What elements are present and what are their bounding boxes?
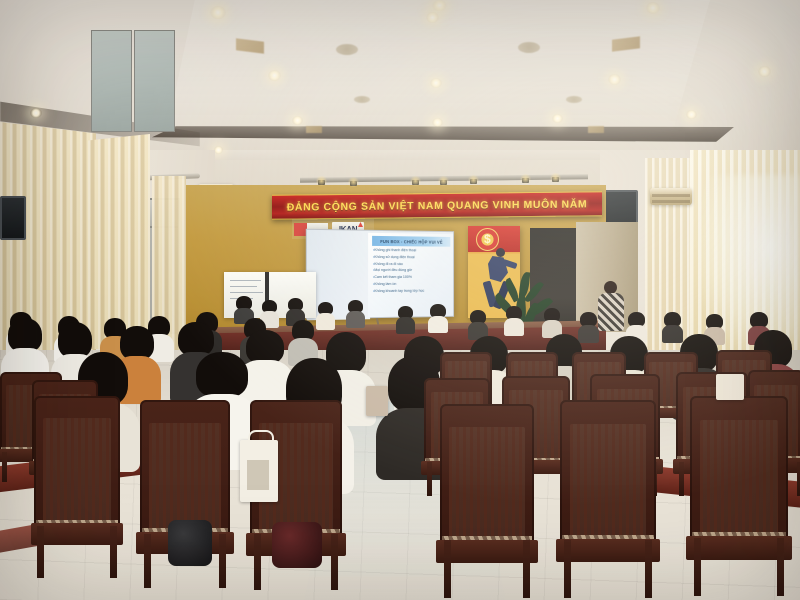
- slide-bullet: Mọi người đều đúng giờ: [373, 267, 453, 274]
- downlight-icon: [292, 116, 303, 125]
- downlight-icon: [758, 66, 771, 77]
- audience-member: [470, 310, 486, 338]
- chair[interactable]: [690, 396, 788, 596]
- downlight-icon: [432, 118, 443, 127]
- handbag: [716, 374, 744, 400]
- ceiling-vent-icon: [354, 96, 370, 103]
- audience-member: [430, 304, 446, 330]
- downlight-icon: [30, 108, 42, 118]
- ceiling-speaker-icon: [306, 126, 322, 133]
- downlight-icon: [430, 78, 442, 88]
- slide-bullet: Không khoanh tay trong lớp học: [373, 288, 453, 295]
- downlight-icon: [686, 110, 697, 119]
- spotlight-icon: [412, 180, 419, 185]
- spotlight-icon: [318, 180, 325, 185]
- downlight-icon: [210, 6, 226, 19]
- downlight-icon: [608, 74, 621, 85]
- audience-member: [398, 306, 413, 332]
- downlight-icon: [426, 12, 439, 23]
- ceiling-vent-icon: [566, 96, 582, 103]
- chair[interactable]: [560, 400, 656, 598]
- handbag: [366, 386, 388, 416]
- slide-title-text: FUN BOX - CHIẾC HỘP VUI VẺ: [380, 238, 442, 244]
- seminar-hall-photo: ĐẢNG CỘNG SẢN VIỆT NAM QUANG VINH MUÔN N…: [0, 0, 800, 600]
- spotlight-icon: [440, 180, 447, 185]
- ceiling-speaker-icon: [588, 126, 604, 133]
- audience-member: [580, 312, 597, 340]
- glass-door-left[interactable]: [91, 30, 132, 132]
- backpack: [272, 522, 322, 568]
- downlight-icon: [646, 2, 660, 14]
- audience-member: [348, 300, 363, 326]
- slide-bullet: Không sử dụng điện thoại: [373, 254, 453, 261]
- banner-text: ĐẢNG CỘNG SẢN VIỆT NAM QUANG VINH MUÔN N…: [287, 198, 588, 213]
- air-conditioner-right: [650, 188, 692, 205]
- audience-member: [544, 308, 560, 336]
- downlight-icon: [552, 114, 563, 123]
- wall-monitor-left: [0, 196, 26, 240]
- ceiling-vent-icon: [518, 42, 540, 53]
- chair[interactable]: [34, 396, 120, 578]
- downlight-icon: [268, 70, 281, 81]
- downlight-icon: [214, 146, 223, 154]
- ceiling-vent-icon: [336, 44, 358, 55]
- spotlight-icon: [470, 179, 477, 184]
- spotlight-icon: [522, 178, 529, 183]
- audience-member: [664, 312, 681, 340]
- audience-member: [318, 302, 333, 328]
- presenter-speaker: [598, 281, 624, 331]
- downlight-icon: [432, 0, 447, 11]
- curtain-left-inner: [88, 134, 150, 349]
- political-banner: ĐẢNG CỘNG SẢN VIỆT NAM QUANG VINH MUÔN N…: [272, 191, 602, 219]
- glass-door-right[interactable]: [134, 30, 175, 132]
- audience-member: [506, 306, 522, 334]
- chair[interactable]: [440, 404, 534, 598]
- tote-bag: [240, 440, 278, 502]
- slide-title-bar: FUN BOX - CHIẾC HỘP VUI VẺ: [372, 236, 450, 247]
- spotlight-icon: [552, 177, 559, 182]
- slide-bullet-list: Không ghi thanh điện thoại Không sử dụng…: [373, 247, 453, 295]
- backpack: [168, 520, 212, 566]
- presenter-body: [598, 293, 624, 331]
- spotlight-icon: [350, 181, 357, 186]
